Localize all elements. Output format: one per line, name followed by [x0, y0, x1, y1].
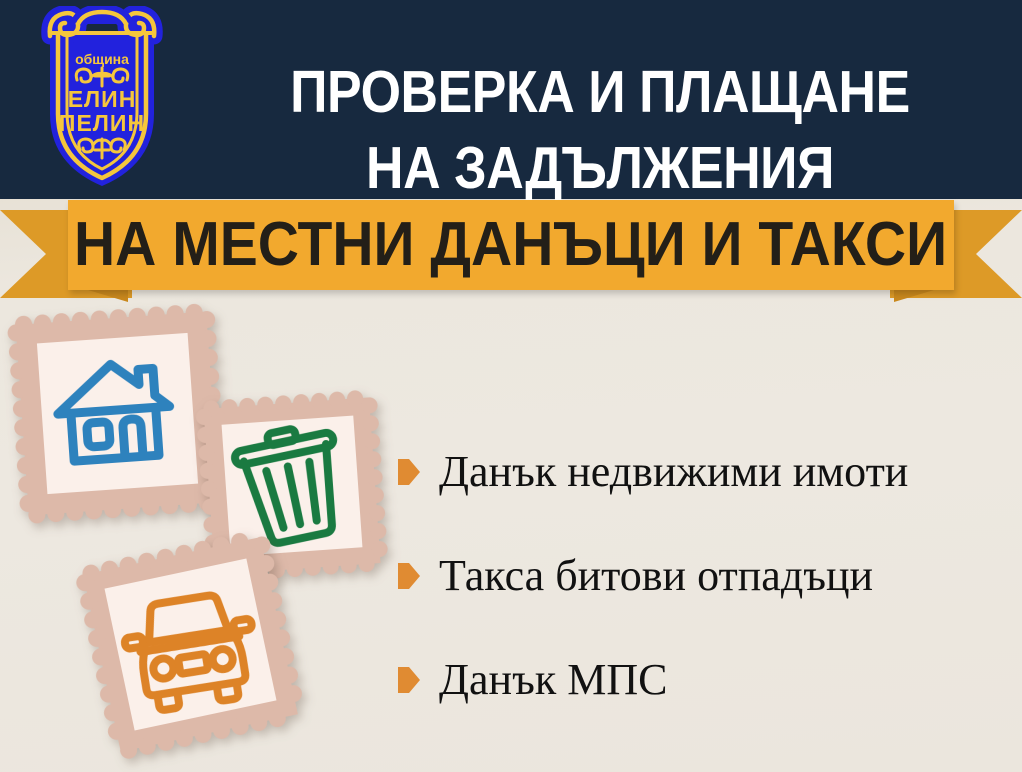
list-item[interactable]: Такса битови отпадъци [398, 524, 1018, 628]
logo-name-line2: ПЕЛИН [59, 110, 145, 136]
ribbon-subtitle: НА МЕСТНИ ДАНЪЦИ И ТАКСИ [74, 214, 947, 276]
list-item[interactable]: Данък МПС [398, 628, 1018, 732]
bullet-arrow-icon [398, 563, 420, 589]
list-item[interactable]: Данък недвижими имоти [398, 420, 1018, 524]
ribbon-main-panel: НА МЕСТНИ ДАНЪЦИ И ТАКСИ [68, 200, 954, 290]
bullet-arrow-icon [398, 459, 420, 485]
poster-canvas: ПРОВЕРКА И ПЛАЩАНЕ НА ЗАДЪЛЖЕНИЯ община [0, 0, 1022, 772]
list-item-label: Такса битови отпадъци [439, 552, 873, 600]
tax-type-list: Данък недвижими имоти Такса битови отпад… [398, 420, 1018, 732]
municipality-logo: община ЕЛИН ПЕЛИН [22, 6, 182, 192]
bullet-arrow-icon [398, 667, 420, 693]
logo-name-line1: ЕЛИН [68, 86, 137, 112]
ribbon-banner: НА МЕСТНИ ДАНЪЦИ И ТАКСИ [0, 196, 1022, 304]
stamp-collage [0, 296, 420, 772]
page-title: ПРОВЕРКА И ПЛАЩАНЕ НА ЗАДЪЛЖЕНИЯ [235, 54, 965, 206]
list-item-label: Данък недвижими имоти [439, 448, 908, 496]
list-item-label: Данък МПС [439, 656, 667, 704]
stamp-car [69, 523, 312, 766]
logo-municipality-label: община [75, 51, 129, 67]
